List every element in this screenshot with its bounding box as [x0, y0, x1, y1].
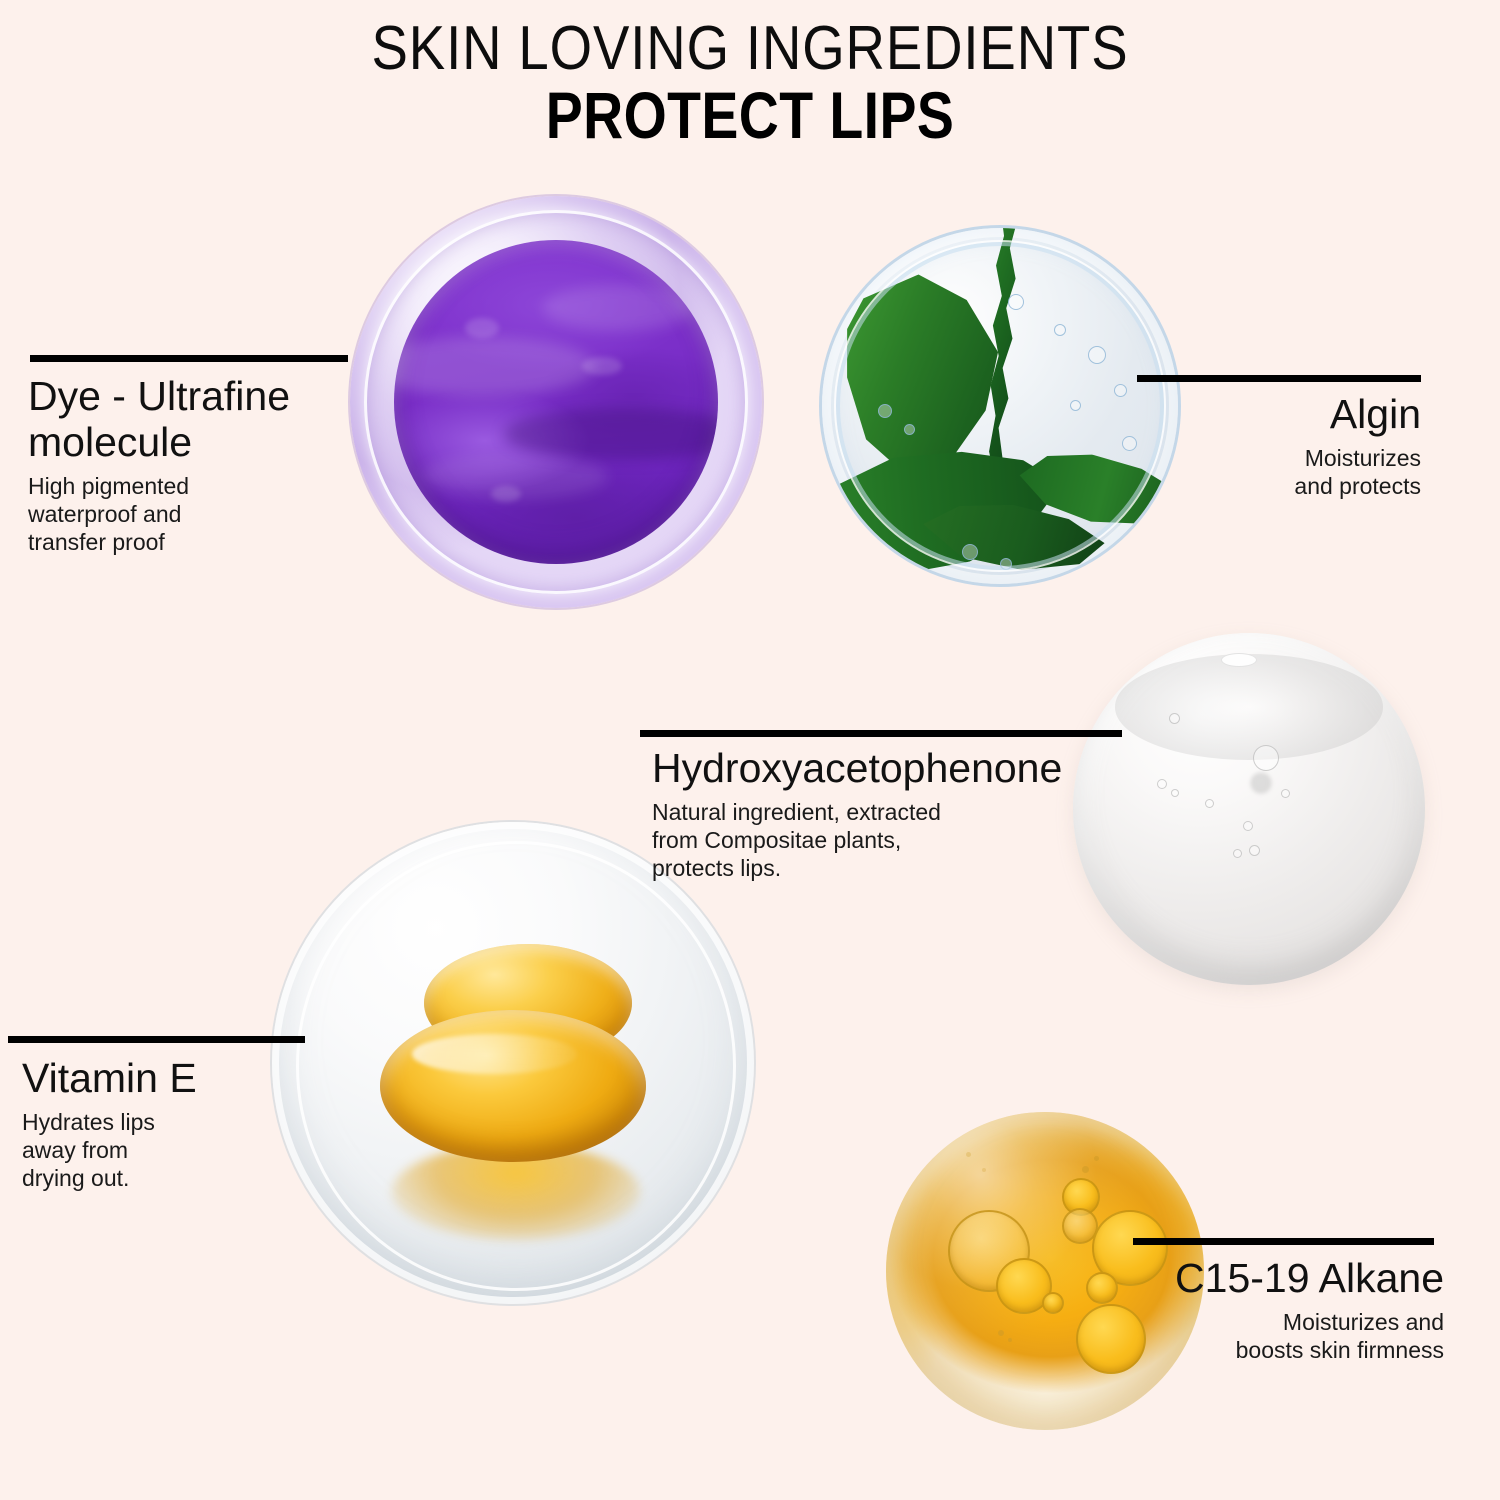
- ingredient-name: Dye - Ultrafine molecule: [28, 374, 358, 466]
- ingredient-description: High pigmented waterproof and transfer p…: [28, 472, 358, 556]
- label-vitamin-e: Vitamin E Hydrates lips away from drying…: [22, 1056, 342, 1192]
- leader-line-vitamin-e: [8, 1036, 305, 1043]
- title-line-secondary: PROTECT LIPS: [120, 80, 1380, 151]
- ingredients-infographic: SKIN LOVING INGREDIENTS PROTECT LIPS: [0, 0, 1500, 1500]
- ingredient-description: Natural ingredient, extracted from Compo…: [652, 798, 1172, 882]
- ingredient-description: Moisturizes and boosts skin firmness: [1134, 1308, 1444, 1364]
- ingredient-name: Algin: [1121, 392, 1421, 438]
- purple-powder-dish-image: [350, 196, 762, 608]
- label-hydroxyacetophenone: Hydroxyacetophenone Natural ingredient, …: [652, 746, 1172, 882]
- title-line-primary: SKIN LOVING INGREDIENTS: [90, 18, 1410, 80]
- leader-line-algin: [1137, 375, 1421, 382]
- vitamin-e-capsules-bowl-image: [272, 822, 754, 1304]
- leader-line-dye: [30, 355, 348, 362]
- ingredient-description: Moisturizes and protects: [1121, 444, 1421, 500]
- leader-line-hydroxyacetophenone: [640, 730, 1122, 737]
- label-c15-19-alkane: C15-19 Alkane Moisturizes and boosts ski…: [1134, 1256, 1444, 1364]
- label-algin: Algin Moisturizes and protects: [1121, 392, 1421, 500]
- leader-line-c15-19-alkane: [1133, 1238, 1434, 1245]
- ingredient-name: Vitamin E: [22, 1056, 342, 1102]
- ingredient-description: Hydrates lips away from drying out.: [22, 1108, 342, 1192]
- ingredient-name: Hydroxyacetophenone: [652, 746, 1172, 792]
- label-dye-ultrafine-molecule: Dye - Ultrafine molecule High pigmented …: [28, 374, 358, 556]
- page-title: SKIN LOVING INGREDIENTS PROTECT LIPS: [0, 18, 1500, 151]
- ingredient-name: C15-19 Alkane: [1134, 1256, 1444, 1302]
- softgel-capsule-lower: [380, 1010, 646, 1162]
- purple-powder-fill: [394, 240, 718, 564]
